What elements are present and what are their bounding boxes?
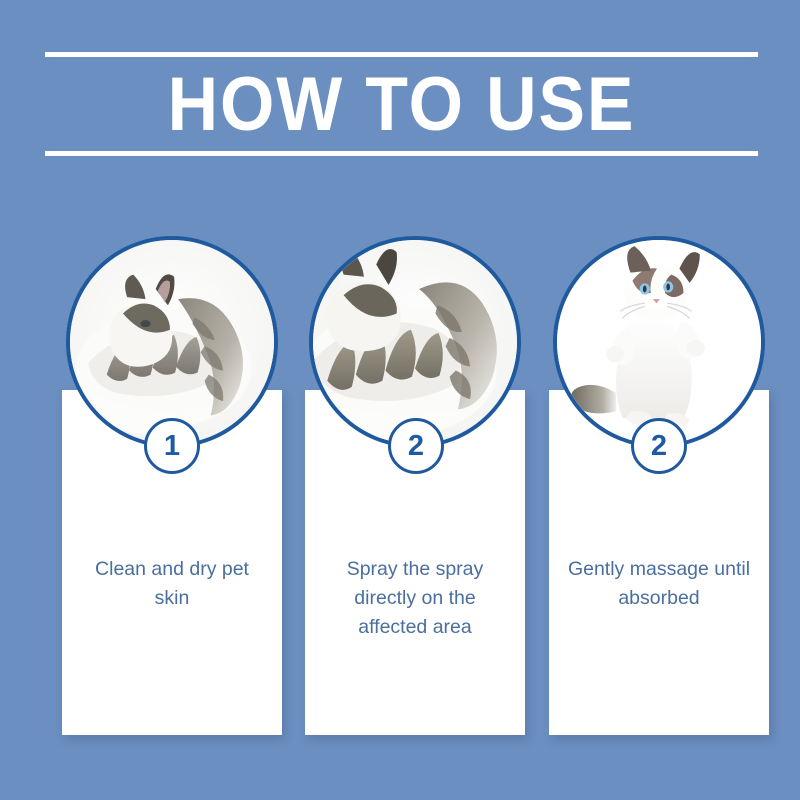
step-photo bbox=[66, 236, 278, 448]
header-bottom-rule bbox=[45, 151, 758, 156]
step-badge: 2 bbox=[388, 418, 444, 474]
how-to-use-poster: HOW TO USE Clean and dry pet skin bbox=[0, 0, 800, 800]
ragdoll-cat-standing-icon bbox=[557, 240, 761, 444]
step-caption: Gently massage until absorbed bbox=[563, 555, 755, 613]
steps-row: Clean and dry pet skin bbox=[0, 236, 800, 756]
kitten-lying-down-icon bbox=[70, 240, 274, 444]
step-badge: 2 bbox=[631, 418, 687, 474]
page-title: HOW TO USE bbox=[74, 61, 730, 149]
step-caption: Spray the spray directly on the affected… bbox=[319, 555, 511, 642]
kitten-fur-closeup-icon bbox=[313, 240, 517, 444]
poster-header: HOW TO USE bbox=[45, 52, 758, 156]
step-caption: Clean and dry pet skin bbox=[76, 555, 268, 613]
step-badge: 1 bbox=[144, 418, 200, 474]
step-photo bbox=[309, 236, 521, 448]
step-photo bbox=[553, 236, 765, 448]
header-top-rule bbox=[45, 52, 758, 57]
